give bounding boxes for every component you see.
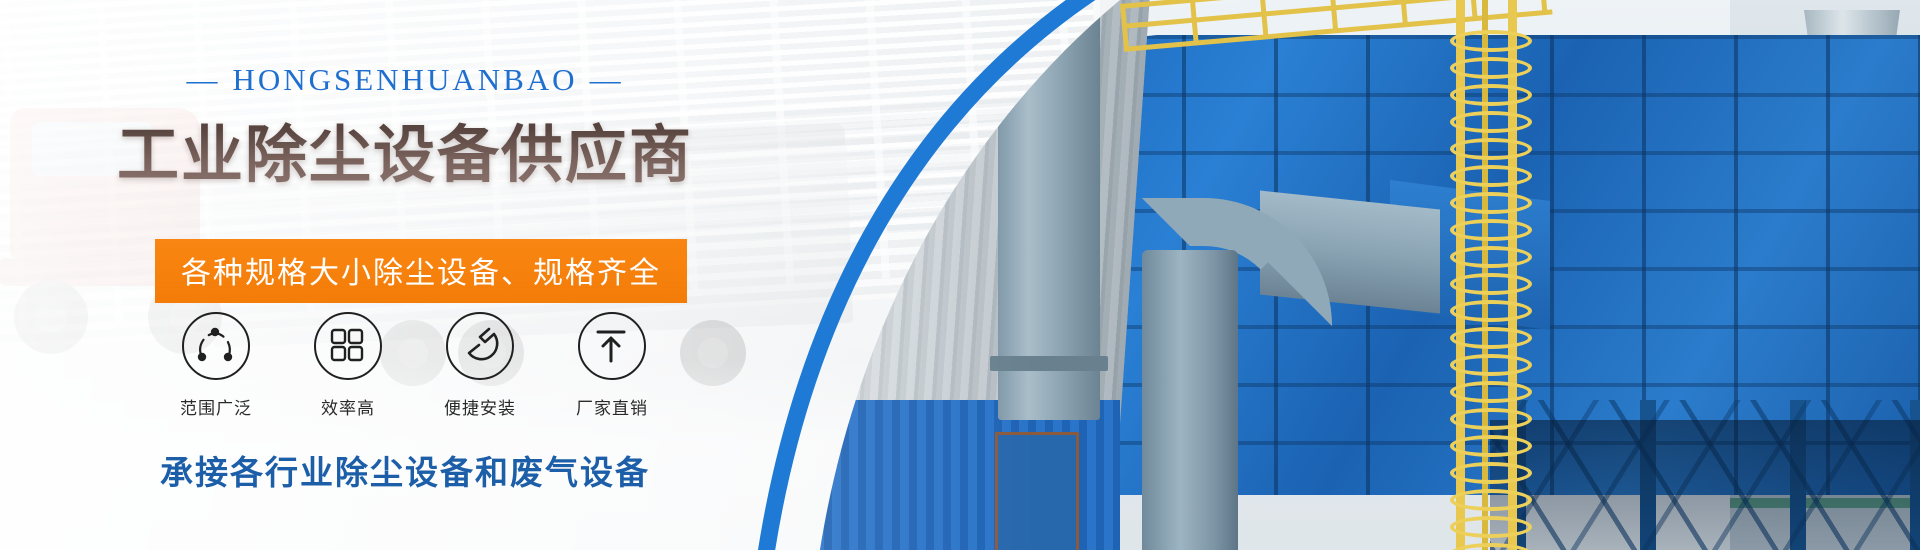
eyebrow-text: HONGSENHUANBAO (232, 62, 577, 97)
feature-item-range[interactable]: 范围广泛 (150, 312, 282, 419)
highlight-bar-text: 各种规格大小除尘设备、规格齐全 (181, 257, 661, 290)
feature-item-efficiency[interactable]: 效率高 (282, 312, 414, 419)
eyebrow-dash-left: — (174, 62, 232, 98)
feature-list: 范围广泛 效率高 (150, 312, 680, 419)
banner-tagline: 承接各行业除尘设备和废气设备 (0, 446, 810, 494)
eyebrow-dash-right: — (578, 62, 636, 98)
hero-banner: —HONGSENHUANBAO— 工业除尘设备供应商 各种规格大小除尘设备、规格… (0, 0, 1920, 550)
network-share-icon (182, 312, 250, 380)
wrench-tool-icon (446, 312, 514, 380)
banner-content: —HONGSENHUANBAO— 工业除尘设备供应商 各种规格大小除尘设备、规格… (0, 0, 860, 550)
feature-label: 范围广泛 (150, 394, 282, 419)
feature-item-factory-direct[interactable]: 厂家直销 (546, 312, 678, 419)
feature-label: 便捷安装 (414, 394, 546, 419)
feature-label: 效率高 (282, 394, 414, 419)
eyebrow-line: —HONGSENHUANBAO— (0, 62, 810, 98)
banner-title: 工业除尘设备供应商 (0, 104, 810, 194)
highlight-bar: 各种规格大小除尘设备、规格齐全 (155, 239, 687, 303)
feature-item-installation[interactable]: 便捷安装 (414, 312, 546, 419)
feature-label: 厂家直销 (546, 394, 678, 419)
up-arrow-icon (578, 312, 646, 380)
grid-squares-icon (314, 312, 382, 380)
